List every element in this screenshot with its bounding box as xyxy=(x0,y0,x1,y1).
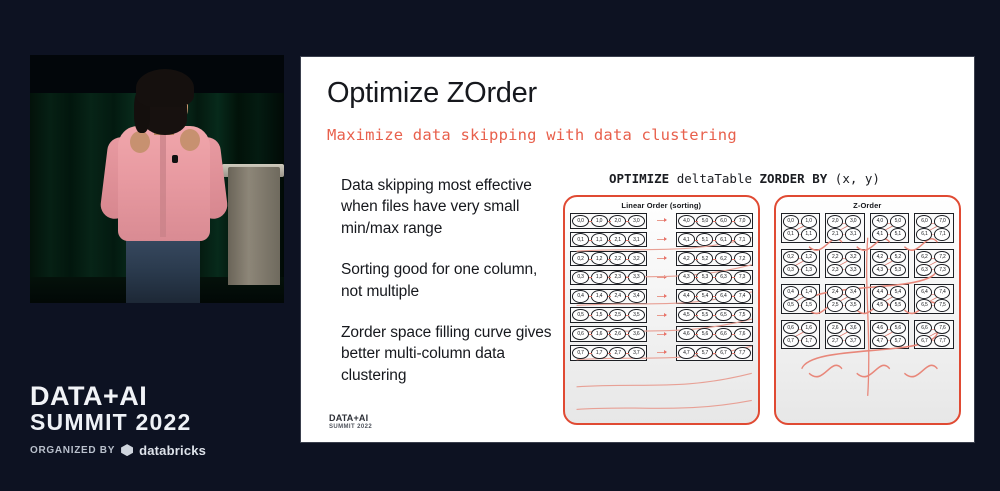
zorder-file-block: 4,45,44,55,5 xyxy=(870,284,910,314)
zorder-file-block: 6,67,66,77,7 xyxy=(914,320,954,350)
sql-code-snippet: OPTIMIZE deltaTable ZORDER BY (x, y) xyxy=(609,171,880,186)
data-point-node: 2,1 xyxy=(609,233,626,246)
data-point-node: 1,1 xyxy=(801,228,817,241)
linear-order-row: 0,01,02,03,04,05,06,07,0 xyxy=(570,213,753,229)
data-point-node: 7,5 xyxy=(734,309,751,322)
data-point-node: 6,1 xyxy=(715,233,732,246)
data-point-node: 7,2 xyxy=(934,251,950,264)
data-point-node: 6,3 xyxy=(916,264,932,277)
data-point-node: 6,7 xyxy=(715,347,732,360)
linear-order-row: 0,21,22,23,24,25,26,27,2 xyxy=(570,251,753,267)
data-point-node: 6,5 xyxy=(715,309,732,322)
data-point-node: 1,4 xyxy=(801,286,817,299)
data-point-node: 5,1 xyxy=(890,228,906,241)
data-point-node: 1,7 xyxy=(591,347,608,360)
data-point-node: 7,2 xyxy=(734,252,751,265)
data-point-node: 5,0 xyxy=(890,215,906,228)
data-point-node: 4,4 xyxy=(872,286,888,299)
data-point-node: 6,1 xyxy=(916,228,932,241)
zorder-file-block: 2,03,02,13,1 xyxy=(825,213,865,243)
linear-order-arrow-icon xyxy=(657,258,666,259)
slide-footer-logo: DATA+AI SUMMIT 2022 xyxy=(329,414,372,430)
data-point-node: 0,0 xyxy=(572,215,589,228)
zorder-file-block: 2,63,62,73,7 xyxy=(825,320,865,350)
slide-content: Optimize ZOrder Maximize data skipping w… xyxy=(301,57,974,442)
data-point-node: 6,6 xyxy=(916,322,932,335)
data-point-node: 5,2 xyxy=(890,251,906,264)
zorder-file-block: 6,47,46,57,5 xyxy=(914,284,954,314)
data-point-node: 3,0 xyxy=(628,215,645,228)
data-point-node: 1,6 xyxy=(591,328,608,341)
data-point-node: 1,5 xyxy=(591,309,608,322)
data-point-node: 1,5 xyxy=(801,299,817,312)
data-point-node: 1,0 xyxy=(591,215,608,228)
data-point-node: 5,4 xyxy=(890,286,906,299)
data-point-node: 4,2 xyxy=(678,252,695,265)
data-point-node: 3,6 xyxy=(628,328,645,341)
data-point-node: 2,3 xyxy=(827,264,843,277)
speaker-hair xyxy=(136,69,194,107)
zorder-file-block: 2,43,42,53,5 xyxy=(825,284,865,314)
data-point-node: 5,2 xyxy=(696,252,713,265)
data-point-node: 5,1 xyxy=(696,233,713,246)
slide-title: Optimize ZOrder xyxy=(327,79,948,108)
event-branding: DATA+AI SUMMIT 2022 ORGANIZED BY databri… xyxy=(30,382,290,458)
linear-file-group: 0,71,72,73,7 xyxy=(570,345,647,361)
linear-order-row: 0,11,12,13,14,15,16,17,1 xyxy=(570,232,753,248)
data-point-node: 7,3 xyxy=(934,264,950,277)
data-point-node: 4,5 xyxy=(678,309,695,322)
linear-file-group: 4,15,16,17,1 xyxy=(676,232,753,248)
data-point-node: 0,3 xyxy=(572,271,589,284)
data-point-node: 2,6 xyxy=(827,322,843,335)
data-point-node: 4,5 xyxy=(872,299,888,312)
speaker-right-hand xyxy=(180,129,200,151)
data-point-node: 0,2 xyxy=(572,252,589,265)
linear-file-group: 0,51,52,53,5 xyxy=(570,307,647,323)
data-point-node: 1,3 xyxy=(801,264,817,277)
data-point-node: 2,5 xyxy=(827,299,843,312)
data-point-node: 3,1 xyxy=(845,228,861,241)
data-point-node: 2,0 xyxy=(609,215,626,228)
linear-order-rows: 0,01,02,03,04,05,06,07,00,11,12,13,14,15… xyxy=(570,213,753,361)
data-point-node: 7,3 xyxy=(734,271,751,284)
linear-file-group: 0,11,12,13,1 xyxy=(570,232,647,248)
data-point-node: 5,3 xyxy=(890,264,906,277)
code-table-name: deltaTable xyxy=(669,171,759,186)
data-point-node: 3,3 xyxy=(845,264,861,277)
data-point-node: 2,4 xyxy=(609,290,626,303)
data-point-node: 7,4 xyxy=(734,290,751,303)
data-point-node: 2,6 xyxy=(609,328,626,341)
data-point-node: 3,3 xyxy=(628,271,645,284)
data-point-node: 0,6 xyxy=(572,328,589,341)
data-point-node: 0,6 xyxy=(783,322,799,335)
data-point-node: 6,4 xyxy=(715,290,732,303)
linear-file-group: 4,55,56,57,5 xyxy=(676,307,753,323)
slide-logo-line2: SUMMIT 2022 xyxy=(329,424,372,430)
data-point-node: 4,7 xyxy=(872,335,888,348)
linear-order-arrow-icon xyxy=(657,277,666,278)
slide-body-text: Data skipping most effective when files … xyxy=(341,175,556,386)
data-point-node: 0,7 xyxy=(783,335,799,348)
linear-order-row: 0,41,42,43,44,45,46,47,4 xyxy=(570,289,753,305)
data-point-node: 1,3 xyxy=(591,271,608,284)
data-point-node: 6,0 xyxy=(715,215,732,228)
body-paragraph-3: Zorder space filling curve gives better … xyxy=(341,322,556,386)
data-point-node: 7,7 xyxy=(734,347,751,360)
slide-logo-line1: DATA+AI xyxy=(329,414,372,423)
data-point-node: 7,5 xyxy=(934,299,950,312)
data-point-node: 4,1 xyxy=(678,233,695,246)
data-point-node: 1,4 xyxy=(591,290,608,303)
data-point-node: 4,6 xyxy=(872,322,888,335)
data-point-node: 5,7 xyxy=(696,347,713,360)
data-point-node: 4,3 xyxy=(678,271,695,284)
data-point-node: 7,6 xyxy=(934,322,950,335)
zorder-file-block: 4,05,04,15,1 xyxy=(870,213,910,243)
diagram-panels: Linear Order (sorting) 0,01,02,03,04,05,… xyxy=(563,195,961,425)
data-point-node: 7,1 xyxy=(734,233,751,246)
presentation-slide: Optimize ZOrder Maximize data skipping w… xyxy=(300,56,975,443)
brand-title: DATA+AI xyxy=(30,382,290,410)
data-point-node: 5,0 xyxy=(696,215,713,228)
linear-order-arrow-icon xyxy=(657,315,666,316)
body-paragraph-1: Data skipping most effective when files … xyxy=(341,175,556,239)
organized-by-label: ORGANIZED BY xyxy=(30,445,115,456)
zorder-file-block: 6,27,26,37,3 xyxy=(914,249,954,279)
code-keyword-zorder-by: ZORDER BY xyxy=(760,171,828,186)
speaker-left-hand xyxy=(130,131,150,153)
data-point-node: 1,2 xyxy=(801,251,817,264)
linear-order-row: 0,71,72,73,74,75,76,77,7 xyxy=(570,345,753,361)
data-point-node: 2,3 xyxy=(609,271,626,284)
linear-file-group: 4,45,46,47,4 xyxy=(676,289,753,305)
speaker-video-feed xyxy=(30,55,284,303)
data-point-node: 0,5 xyxy=(783,299,799,312)
data-point-node: 7,0 xyxy=(934,215,950,228)
linear-file-group: 4,65,66,67,6 xyxy=(676,326,753,342)
brand-organizer: ORGANIZED BY databricks xyxy=(30,443,290,458)
data-point-node: 6,6 xyxy=(715,328,732,341)
data-point-node: 2,5 xyxy=(609,309,626,322)
data-point-node: 5,6 xyxy=(696,328,713,341)
data-point-node: 0,5 xyxy=(572,309,589,322)
databricks-logo-icon xyxy=(121,444,133,456)
speaker-shirt-placket xyxy=(160,129,166,237)
data-point-node: 4,3 xyxy=(872,264,888,277)
data-point-node: 6,2 xyxy=(916,251,932,264)
data-point-node: 7,0 xyxy=(734,215,751,228)
data-point-node: 7,7 xyxy=(934,335,950,348)
data-point-node: 0,1 xyxy=(572,233,589,246)
zorder-title: Z-Order xyxy=(781,201,954,210)
slide-subtitle: Maximize data skipping with data cluster… xyxy=(327,126,948,144)
code-keyword-optimize: OPTIMIZE xyxy=(609,171,669,186)
data-point-node: 6,4 xyxy=(916,286,932,299)
data-point-node: 5,5 xyxy=(696,309,713,322)
data-point-node: 0,2 xyxy=(783,251,799,264)
data-point-node: 2,2 xyxy=(827,251,843,264)
zorder-blocks: 0,01,00,11,12,03,02,13,14,05,04,15,16,07… xyxy=(781,213,954,349)
data-point-node: 5,3 xyxy=(696,271,713,284)
data-point-node: 4,1 xyxy=(872,228,888,241)
data-point-node: 3,0 xyxy=(845,215,861,228)
data-point-node: 0,7 xyxy=(572,347,589,360)
data-point-node: 6,5 xyxy=(916,299,932,312)
linear-file-group: 4,05,06,07,0 xyxy=(676,213,753,229)
data-point-node: 1,7 xyxy=(801,335,817,348)
linear-file-group: 4,35,36,37,3 xyxy=(676,270,753,286)
data-point-node: 1,6 xyxy=(801,322,817,335)
data-point-node: 3,5 xyxy=(628,309,645,322)
zorder-file-block: 2,23,22,33,3 xyxy=(825,249,865,279)
linear-file-group: 0,61,62,63,6 xyxy=(570,326,647,342)
data-point-node: 3,7 xyxy=(628,347,645,360)
brand-subtitle: SUMMIT 2022 xyxy=(30,410,290,435)
podium xyxy=(228,167,280,285)
zorder-file-block: 0,21,20,31,3 xyxy=(781,249,821,279)
data-point-node: 2,7 xyxy=(827,335,843,348)
data-point-node: 1,1 xyxy=(591,233,608,246)
linear-order-row: 0,51,52,53,54,55,56,57,5 xyxy=(570,307,753,323)
linear-file-group: 0,01,02,03,0 xyxy=(570,213,647,229)
data-point-node: 3,2 xyxy=(845,251,861,264)
data-point-node: 4,0 xyxy=(678,215,695,228)
data-point-node: 0,4 xyxy=(572,290,589,303)
data-point-node: 3,2 xyxy=(628,252,645,265)
zorder-file-block: 6,07,06,17,1 xyxy=(914,213,954,243)
data-point-node: 4,4 xyxy=(678,290,695,303)
linear-order-arrow-icon xyxy=(657,296,666,297)
data-point-node: 3,5 xyxy=(845,299,861,312)
zorder-file-block: 0,41,40,51,5 xyxy=(781,284,821,314)
linear-order-panel: Linear Order (sorting) 0,01,02,03,04,05,… xyxy=(563,195,760,425)
data-point-node: 5,4 xyxy=(696,290,713,303)
zorder-file-block: 0,61,60,71,7 xyxy=(781,320,821,350)
data-point-node: 6,2 xyxy=(715,252,732,265)
data-point-node: 1,2 xyxy=(591,252,608,265)
linear-order-arrow-icon xyxy=(657,239,666,240)
code-arguments: (x, y) xyxy=(827,171,880,186)
data-point-node: 3,6 xyxy=(845,322,861,335)
linear-file-group: 0,31,32,33,3 xyxy=(570,270,647,286)
data-point-node: 3,7 xyxy=(845,335,861,348)
zorder-file-block: 0,01,00,11,1 xyxy=(781,213,821,243)
zorder-file-block: 4,65,64,75,7 xyxy=(870,320,910,350)
linear-file-group: 4,25,26,27,2 xyxy=(676,251,753,267)
linear-order-row: 0,61,62,63,64,65,66,67,6 xyxy=(570,326,753,342)
data-point-node: 5,5 xyxy=(890,299,906,312)
data-point-node: 4,7 xyxy=(678,347,695,360)
linear-order-arrow-icon xyxy=(657,334,666,335)
data-point-node: 2,7 xyxy=(609,347,626,360)
data-point-node: 2,4 xyxy=(827,286,843,299)
linear-order-title: Linear Order (sorting) xyxy=(570,201,753,210)
linear-order-arrow-icon xyxy=(657,352,666,353)
data-point-node: 7,4 xyxy=(934,286,950,299)
data-point-node: 4,6 xyxy=(678,328,695,341)
linear-order-row: 0,31,32,33,34,35,36,37,3 xyxy=(570,270,753,286)
lapel-microphone xyxy=(172,155,178,163)
data-point-node: 6,0 xyxy=(916,215,932,228)
data-point-node: 2,1 xyxy=(827,228,843,241)
data-point-node: 6,7 xyxy=(916,335,932,348)
data-point-node: 3,4 xyxy=(628,290,645,303)
data-point-node: 7,1 xyxy=(934,228,950,241)
data-point-node: 4,0 xyxy=(872,215,888,228)
data-point-node: 7,6 xyxy=(734,328,751,341)
data-point-node: 0,0 xyxy=(783,215,799,228)
linear-file-group: 0,21,22,23,2 xyxy=(570,251,647,267)
presentation-stage: DATA+AI SUMMIT 2022 ORGANIZED BY databri… xyxy=(0,0,1000,491)
data-point-node: 0,1 xyxy=(783,228,799,241)
data-point-node: 3,1 xyxy=(628,233,645,246)
linear-file-group: 4,75,76,77,7 xyxy=(676,345,753,361)
zorder-file-block: 4,25,24,35,3 xyxy=(870,249,910,279)
data-point-node: 3,4 xyxy=(845,286,861,299)
databricks-wordmark: databricks xyxy=(139,443,206,458)
data-point-node: 5,7 xyxy=(890,335,906,348)
data-point-node: 0,3 xyxy=(783,264,799,277)
data-point-node: 1,0 xyxy=(801,215,817,228)
data-point-node: 5,6 xyxy=(890,322,906,335)
data-point-node: 2,2 xyxy=(609,252,626,265)
data-point-node: 0,4 xyxy=(783,286,799,299)
data-point-node: 4,2 xyxy=(872,251,888,264)
linear-file-group: 0,41,42,43,4 xyxy=(570,289,647,305)
body-paragraph-2: Sorting good for one column, not multipl… xyxy=(341,259,556,302)
data-point-node: 2,0 xyxy=(827,215,843,228)
data-point-node: 6,3 xyxy=(715,271,732,284)
zorder-panel: Z-Order 0,01,00,11,12,03,02,13,14,05,04,… xyxy=(774,195,961,425)
linear-order-arrow-icon xyxy=(657,220,666,221)
